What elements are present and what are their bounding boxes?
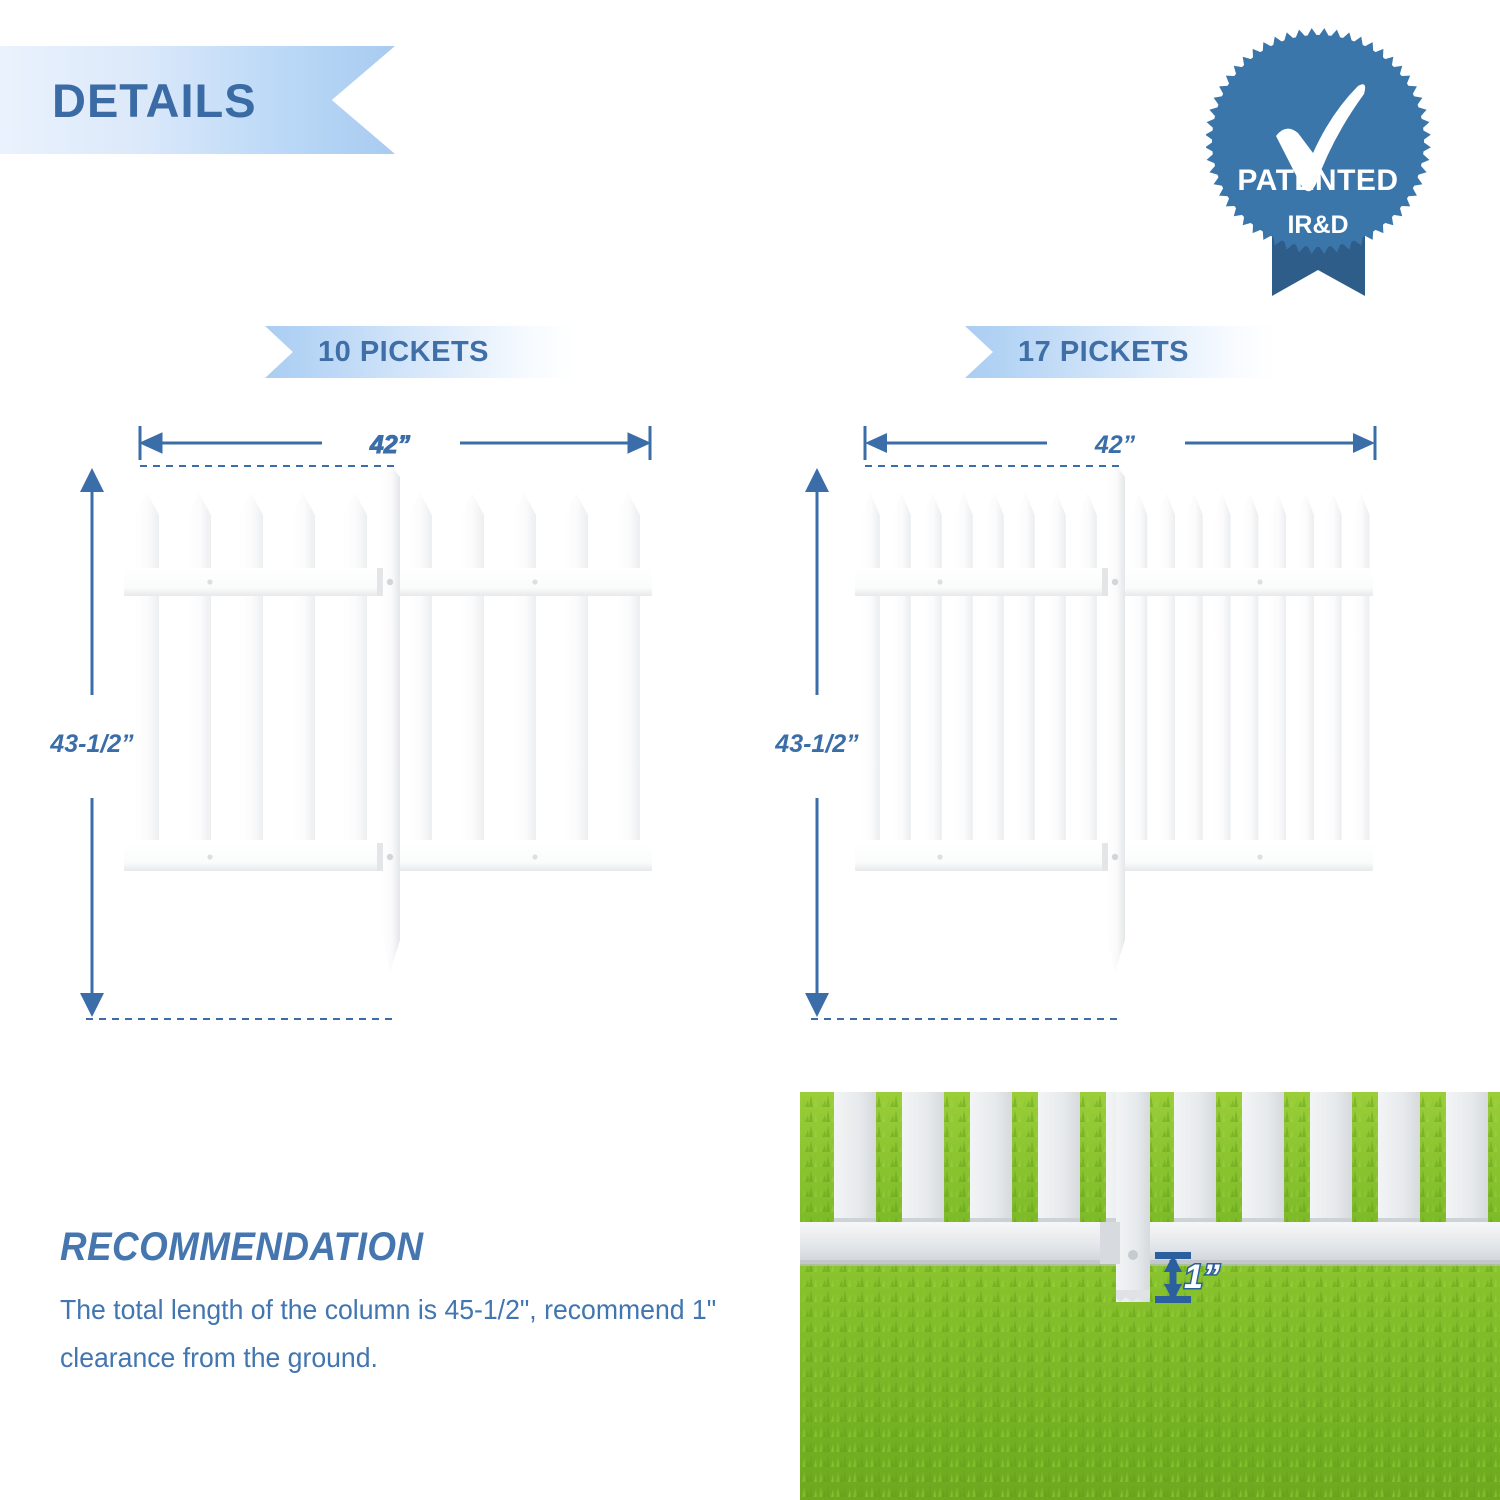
banner-10-pickets-label: 10 PICKETS <box>318 336 489 369</box>
picket <box>954 493 973 840</box>
fence-pickets-10 <box>124 464 652 972</box>
rail-top-right <box>1123 568 1373 596</box>
dimension-height-10-label: 43-1/2” <box>49 730 134 758</box>
dimension-width-17: 42” <box>865 426 1375 460</box>
details-banner: DETAILS <box>0 46 395 154</box>
rail-top-right <box>398 568 652 596</box>
picket <box>1131 493 1148 840</box>
picket <box>985 493 1004 840</box>
page-root: DETAILS PATENTED IR&D 10 PICKETS 17 PICK… <box>0 0 1500 1500</box>
rail-top-left <box>124 568 380 596</box>
dimension-width-17-label: 42” <box>1094 431 1136 459</box>
diagram-17-pickets: 42” 43-1/2” <box>755 420 1445 1060</box>
diagram-10-pickets: 42” 43-1/2” <box>30 420 720 1060</box>
rail-top-left <box>855 568 1105 596</box>
picket <box>1353 493 1370 840</box>
picket <box>1016 493 1035 840</box>
banner-17-pickets-label: 17 PICKETS <box>1018 336 1189 369</box>
banner-17-pickets: 17 PICKETS <box>965 326 1275 378</box>
picket <box>1078 493 1097 840</box>
picket <box>923 493 942 840</box>
fence-drawing-10: 42” 43-1/2” <box>30 420 720 1060</box>
badge-line2: IR&D <box>1287 211 1348 239</box>
picket <box>1242 493 1259 840</box>
badge-line1: PATENTED <box>1237 164 1398 197</box>
fence-pickets-17 <box>855 464 1373 972</box>
dimension-width-10-label: 42” <box>369 431 411 459</box>
dimension-clearance-label: 1” <box>1184 1258 1220 1296</box>
installation-photo: 1” <box>800 1092 1500 1500</box>
picket <box>1214 493 1231 840</box>
rail-bottom-left <box>855 843 1105 871</box>
recommendation-body: The total length of the column is 45-1/2… <box>60 1286 754 1382</box>
rail-bottom-right <box>1123 843 1373 871</box>
picket <box>1269 493 1286 840</box>
picket <box>1186 493 1203 840</box>
picket <box>1047 493 1066 840</box>
dimension-width-10: 42” <box>140 426 650 460</box>
photo-post <box>1116 1092 1150 1302</box>
rail-bottom-right <box>398 843 652 871</box>
dimension-height-17-label: 43-1/2” <box>774 730 859 758</box>
recommendation-title: RECOMMENDATION <box>60 1225 424 1270</box>
fence-drawing-17: 42” 43-1/2” <box>755 420 1445 1060</box>
picket <box>1158 493 1175 840</box>
dimension-height-17: 43-1/2” <box>774 466 1121 1019</box>
picket <box>1325 493 1342 840</box>
center-post <box>380 464 400 972</box>
picket <box>861 493 880 840</box>
details-banner-label: DETAILS <box>52 73 257 128</box>
banner-10-pickets: 10 PICKETS <box>265 326 575 378</box>
center-post <box>1105 464 1125 972</box>
picket <box>1297 493 1314 840</box>
picket <box>892 493 911 840</box>
rail-bottom-left <box>124 843 380 871</box>
patented-badge: PATENTED IR&D <box>1206 28 1431 296</box>
